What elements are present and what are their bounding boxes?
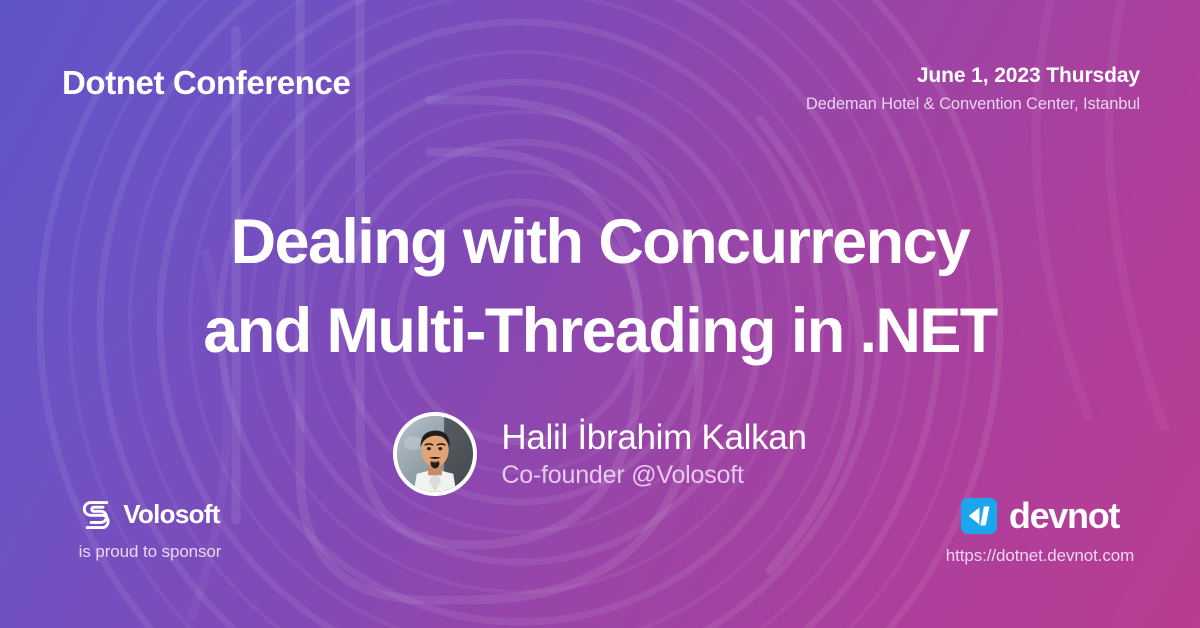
event-date: June 1, 2023 Thursday bbox=[806, 64, 1140, 88]
speaker-section: Halil İbrahim Kalkan Co-founder @Volosof… bbox=[0, 412, 1200, 496]
volosoft-logo: Volosoft bbox=[0, 497, 300, 531]
speaker-avatar bbox=[393, 412, 477, 496]
conference-name: Dotnet Conference bbox=[62, 64, 350, 102]
devnot-wordmark: devnot bbox=[1009, 495, 1119, 537]
speaker-text: Halil İbrahim Kalkan Co-founder @Volosof… bbox=[501, 418, 806, 490]
devnot-url[interactable]: https://dotnet.devnot.com bbox=[880, 546, 1200, 566]
devnot-play-icon bbox=[961, 498, 997, 534]
devnot-logo: devnot bbox=[880, 495, 1200, 537]
talk-title: Dealing with Concurrency and Multi-Threa… bbox=[0, 198, 1200, 377]
event-venue: Dedeman Hotel & Convention Center, Istan… bbox=[806, 95, 1140, 114]
speaker-role: Co-founder @Volosoft bbox=[501, 461, 806, 490]
sponsor-section: Volosoft is proud to sponsor bbox=[0, 497, 300, 562]
speaker-name: Halil İbrahim Kalkan bbox=[501, 418, 806, 457]
conference-banner: Dotnet Conference June 1, 2023 Thursday … bbox=[0, 0, 1200, 628]
volosoft-wordmark: Volosoft bbox=[123, 499, 219, 530]
sponsor-tagline: is proud to sponsor bbox=[0, 542, 300, 562]
banner-header: Dotnet Conference June 1, 2023 Thursday … bbox=[0, 0, 1200, 140]
talk-title-line-1: Dealing with Concurrency bbox=[0, 198, 1200, 287]
volosoft-spiral-icon bbox=[80, 497, 114, 531]
talk-title-line-2: and Multi-Threading in .NET bbox=[0, 287, 1200, 376]
event-details: June 1, 2023 Thursday Dedeman Hotel & Co… bbox=[806, 64, 1140, 114]
organizer-section: devnot https://dotnet.devnot.com bbox=[880, 495, 1200, 566]
